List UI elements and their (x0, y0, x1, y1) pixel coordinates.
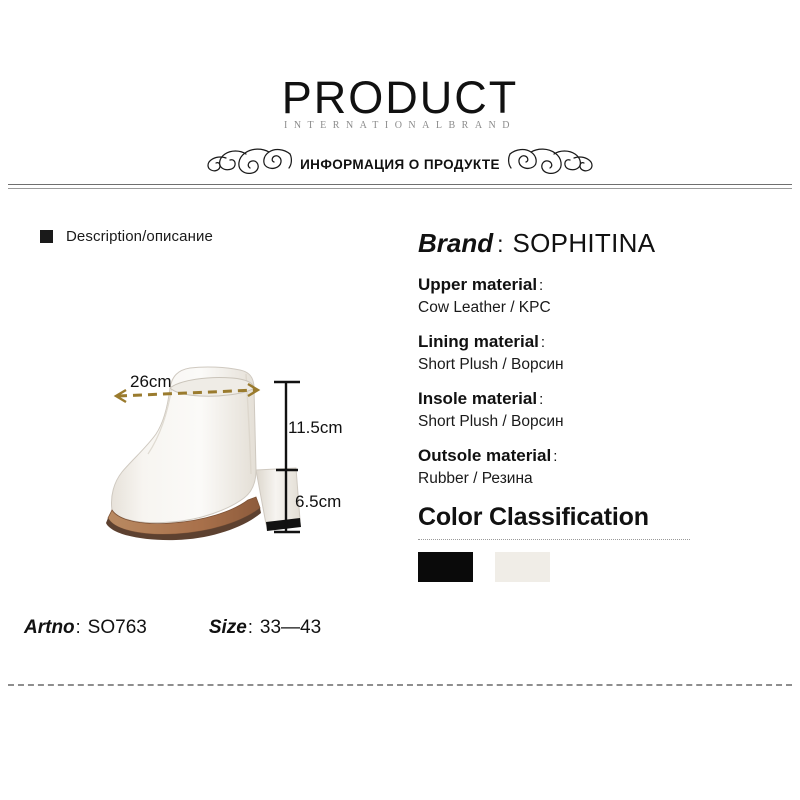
spec-value: Cow Leather / KPC (418, 299, 778, 317)
measurement-label-shaft-height: 11.5cm (288, 418, 343, 438)
color-classification-title: Color Classification (418, 503, 778, 532)
spec-outsole-material: Outsole material : Rubber / Резина (418, 446, 778, 488)
size-key: Size (209, 617, 247, 639)
boot-illustration (60, 350, 400, 580)
spec-colon: : (553, 448, 557, 465)
spec-key: Insole material (418, 389, 537, 409)
color-swatch-list (418, 552, 778, 582)
spec-insole-material: Insole material : Short Plush / Ворсин (418, 389, 778, 431)
color-swatch-black[interactable] (418, 552, 473, 582)
spec-upper-material: Upper material : Cow Leather / KPC (418, 275, 778, 317)
spec-colon: : (539, 277, 543, 294)
brand-row: Brand : SOPHITINA (418, 228, 778, 259)
bottom-divider (8, 684, 792, 686)
specifications-panel: Brand : SOPHITINA Upper material : Cow L… (418, 228, 778, 582)
flourish-left-icon (206, 145, 294, 184)
spec-key-line: Lining material : (418, 332, 778, 352)
spec-key: Upper material (418, 275, 537, 295)
artno-value: SO763 (88, 617, 147, 639)
spec-key: Outsole material (418, 446, 551, 466)
measurement-label-shaft-circumference: 26cm (130, 372, 172, 392)
spec-key: Lining material (418, 332, 539, 352)
size-value: 33—43 (260, 617, 321, 639)
spec-lining-material: Lining material : Short Plush / Ворсин (418, 332, 778, 374)
ru-subtitle: ИНФОРМАЦИЯ О ПРОДУКТЕ (300, 157, 500, 172)
color-section-divider (418, 539, 690, 540)
flourish-right-icon (506, 145, 594, 184)
size-colon: : (248, 617, 253, 638)
measurement-label-heel-height: 6.5cm (295, 492, 341, 512)
artno-key: Artno (24, 617, 75, 639)
spec-key-line: Outsole material : (418, 446, 778, 466)
brand-key: Brand (418, 228, 493, 259)
spec-value: Short Plush / Ворсин (418, 413, 778, 431)
spec-colon: : (541, 334, 545, 351)
spec-key-line: Upper material : (418, 275, 778, 295)
description-label: Description/описание (40, 228, 213, 245)
square-bullet-icon (40, 230, 53, 243)
divider-line-bottom (8, 188, 792, 189)
spec-colon: : (539, 391, 543, 408)
header-divider (8, 184, 792, 189)
product-meta-row: Artno : SO763 Size : 33—43 (24, 617, 321, 639)
spec-value: Short Plush / Ворсин (418, 356, 778, 374)
spec-value: Rubber / Резина (418, 470, 778, 488)
ornament-row: ИНФОРМАЦИЯ О ПРОДУКТЕ (0, 146, 800, 182)
description-label-text: Description/описание (66, 228, 213, 245)
divider-line-top (8, 184, 792, 185)
artno-colon: : (76, 617, 81, 638)
page-header: PRODUCT INTERNATIONALBRAND ИНФОРМАЦИЯ О … (0, 0, 800, 200)
product-image (60, 350, 400, 580)
brand-subtitle: INTERNATIONALBRAND (0, 120, 800, 131)
brand-colon: : (497, 231, 503, 258)
spec-key-line: Insole material : (418, 389, 778, 409)
brand-value: SOPHITINA (513, 228, 656, 259)
page-title: PRODUCT (0, 72, 800, 124)
color-swatch-beige-white[interactable] (495, 552, 550, 582)
